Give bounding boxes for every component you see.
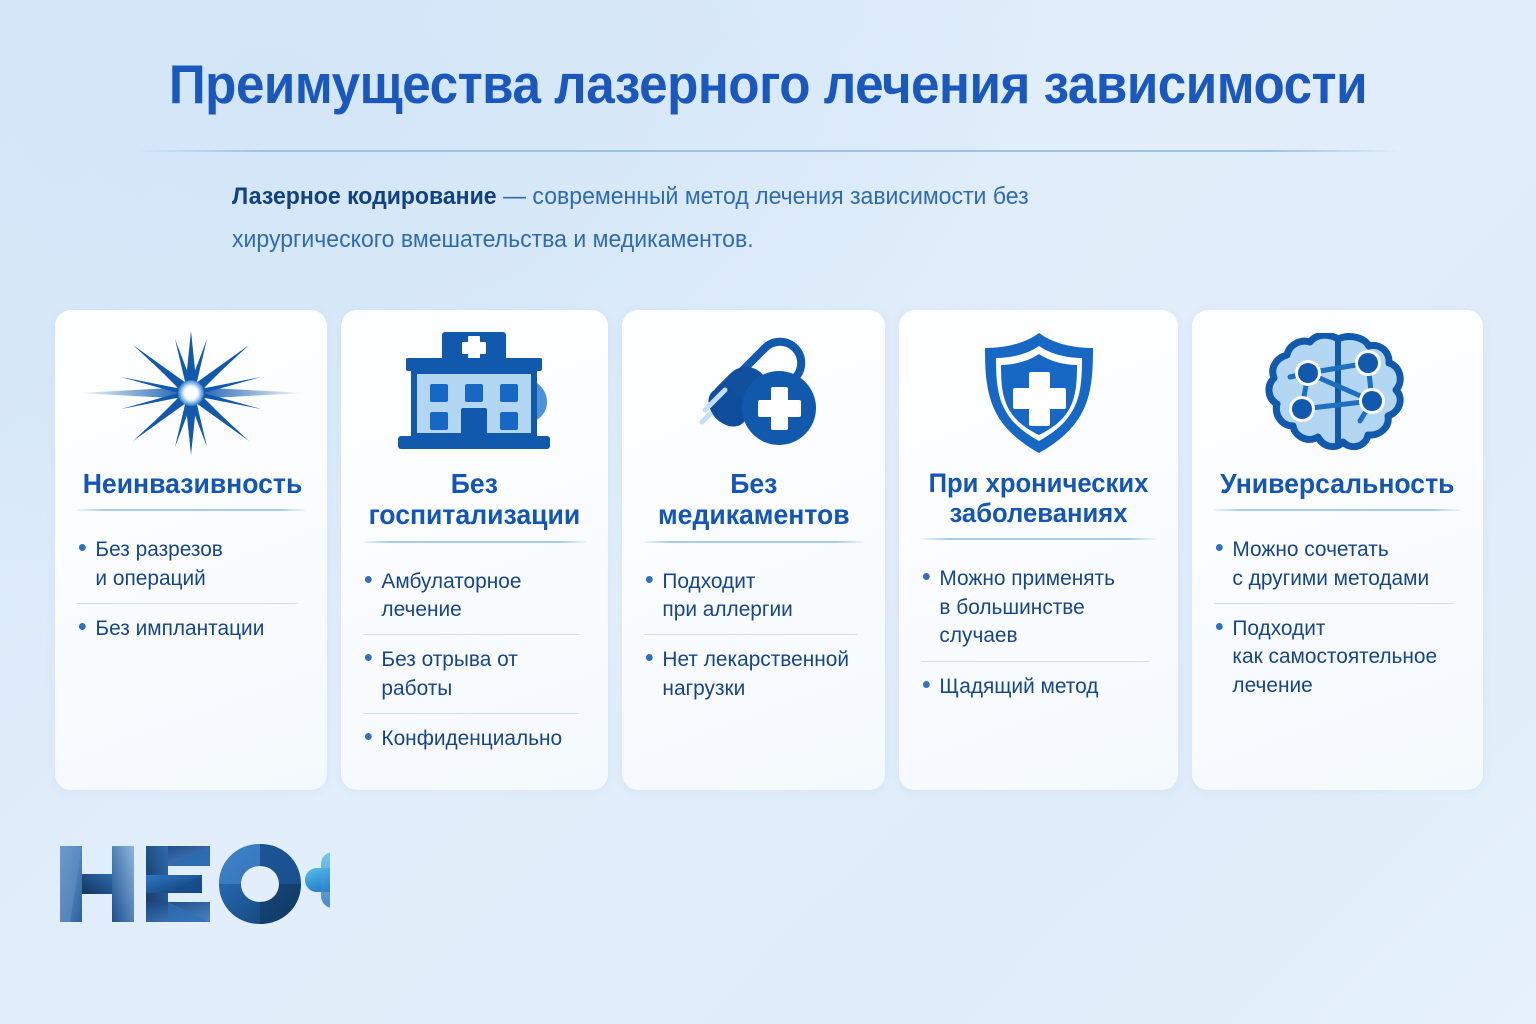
bullet-dot bbox=[923, 573, 930, 580]
bullet-dot bbox=[1216, 623, 1223, 630]
brain-network-icon bbox=[1214, 318, 1461, 468]
benefit-card-no-hospitalization[interactable]: Без госпитализации Амбулаторное лечение … bbox=[341, 310, 608, 790]
list-item-text: Конфиденциально bbox=[381, 724, 562, 752]
list-item-text: Без имплантации bbox=[95, 614, 264, 642]
subtitle-strong: Лазерное кодирование bbox=[232, 183, 497, 210]
bullet-dot bbox=[646, 654, 653, 661]
benefit-card-universality[interactable]: Универсальность Можно сочетать с другими… bbox=[1192, 310, 1483, 790]
subtitle: Лазерное кодирование — современный метод… bbox=[232, 176, 1192, 261]
list-item-text: Можно применять в большинстве случаев bbox=[940, 564, 1150, 649]
bullet-dot bbox=[79, 544, 86, 551]
list-item-text: Без отрыва от работы bbox=[381, 645, 579, 702]
bullet-dot bbox=[79, 623, 86, 630]
bullet-dot bbox=[1216, 544, 1223, 551]
list-item: Нет лекарственной нагрузки bbox=[644, 634, 857, 713]
list-item-text: Подходит при аллергии bbox=[662, 567, 792, 624]
list-item: Конфиденциально bbox=[363, 713, 579, 763]
card-title-divider bbox=[77, 509, 305, 511]
bullet-dot bbox=[646, 576, 653, 583]
list-item: Можно сочетать с другими методами bbox=[1214, 525, 1453, 603]
list-item: Можно применять в большинстве случаев bbox=[921, 554, 1149, 660]
card-title-divider bbox=[363, 541, 586, 543]
benefit-list: Можно сочетать с другими методами Подход… bbox=[1214, 525, 1461, 710]
bullet-dot bbox=[365, 576, 372, 583]
list-item-text: Щадящий метод bbox=[940, 672, 1099, 700]
card-title-divider bbox=[644, 541, 864, 543]
benefit-cards-row: Неинвазивность Без разрезов и операций Б… bbox=[55, 310, 1483, 790]
list-item: Без имплантации bbox=[77, 603, 298, 653]
bullet-dot bbox=[365, 733, 372, 740]
title-divider bbox=[136, 150, 1400, 152]
list-item: Без разрезов и операций bbox=[77, 525, 298, 603]
card-title: Неинвазивность bbox=[83, 468, 300, 509]
subtitle-dash: — bbox=[497, 183, 533, 210]
bullet-dot bbox=[365, 654, 372, 661]
list-item: Без отрыва от работы bbox=[363, 634, 579, 713]
benefit-card-chronic-conditions[interactable]: При хронических заболеваниях Можно приме… bbox=[899, 310, 1178, 790]
card-title: При хронических заболеваниях bbox=[927, 468, 1150, 538]
laser-burst-icon bbox=[77, 318, 305, 468]
benefit-list: Амбулаторное лечение Без отрыва от работ… bbox=[363, 557, 586, 764]
neo-plus-logo[interactable] bbox=[60, 838, 330, 930]
list-item: Подходит как самостоятельное лечение bbox=[1214, 603, 1453, 710]
list-item: Амбулаторное лечение bbox=[363, 557, 579, 635]
card-title: Без госпитализации bbox=[369, 468, 581, 541]
card-title-divider bbox=[921, 538, 1156, 540]
benefit-list: Можно применять в большинстве случаев Ща… bbox=[921, 554, 1156, 711]
list-item: Подходит при аллергии bbox=[644, 557, 857, 635]
pill-capsule-cross-icon bbox=[644, 318, 864, 468]
card-title: Универсальность bbox=[1221, 468, 1455, 509]
list-item-text: Нет лекарственной нагрузки bbox=[662, 645, 849, 702]
list-item-text: Можно сочетать с другими методами bbox=[1233, 535, 1430, 592]
hospital-building-icon bbox=[363, 318, 586, 468]
page-title: Преимущества лазерного лечения зависимос… bbox=[54, 54, 1482, 115]
card-title-divider bbox=[1214, 509, 1461, 511]
list-item-text: Без разрезов и операций bbox=[95, 535, 222, 592]
list-item-text: Подходит как самостоятельное лечение bbox=[1233, 614, 1438, 699]
benefit-list: Подходит при аллергии Нет лекарственной … bbox=[644, 557, 864, 714]
bullet-dot bbox=[923, 681, 930, 688]
shield-cross-icon bbox=[921, 318, 1156, 468]
benefit-list: Без разрезов и операций Без имплантации bbox=[77, 525, 305, 653]
infographic-canvas: Преимущества лазерного лечения зависимос… bbox=[0, 0, 1536, 1024]
benefit-card-noninvasive[interactable]: Неинвазивность Без разрезов и операций Б… bbox=[55, 310, 327, 790]
card-title: Без медикаментов bbox=[649, 468, 858, 541]
list-item: Щадящий метод bbox=[921, 661, 1149, 711]
benefit-card-no-medication[interactable]: Без медикаментов Подходит при аллергии Н… bbox=[622, 310, 886, 790]
list-item-text: Амбулаторное лечение bbox=[381, 567, 521, 624]
